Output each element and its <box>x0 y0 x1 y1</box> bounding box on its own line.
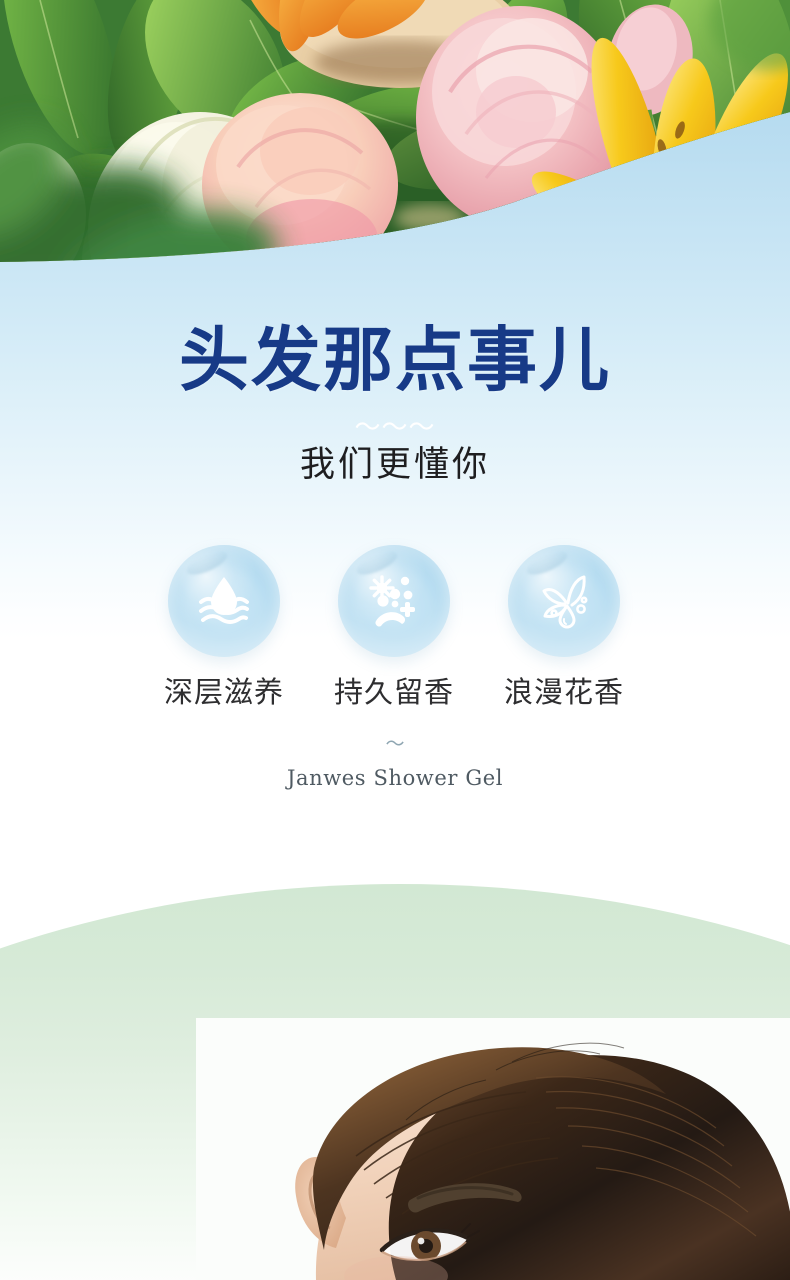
feature-bubble <box>338 545 450 657</box>
feature-label: 深层滋养 <box>139 676 309 710</box>
feature-item-long-lasting-scent[interactable]: 持久留香 <box>309 545 479 710</box>
feature-list: 深层滋养 <box>0 545 790 725</box>
floral-bouquet-photo <box>0 0 790 275</box>
woman-face-photo <box>196 1018 790 1280</box>
feature-bubble <box>508 545 620 657</box>
brand-divider: ～ <box>0 735 790 755</box>
water-drop-waves-icon <box>192 569 256 633</box>
page-subtitle: 我们更懂你 <box>0 443 790 487</box>
feature-item-deep-nourish[interactable]: 深层滋养 <box>139 545 309 710</box>
brand-name: Janwes Shower Gel <box>0 764 790 792</box>
product-detail-page: 头发那点事儿 ～～～ 我们更懂你 深层滋养 <box>0 0 790 1280</box>
fragrance-sparkle-icon <box>362 569 426 633</box>
feature-bubble <box>168 545 280 657</box>
floral-petal-drop-icon <box>532 569 596 633</box>
page-title: 头发那点事儿 <box>0 322 790 398</box>
feature-label: 浪漫花香 <box>479 676 649 710</box>
title-divider: ～～～ <box>0 414 790 440</box>
feature-label: 持久留香 <box>309 676 479 710</box>
feature-item-romantic-floral[interactable]: 浪漫花香 <box>479 545 649 710</box>
